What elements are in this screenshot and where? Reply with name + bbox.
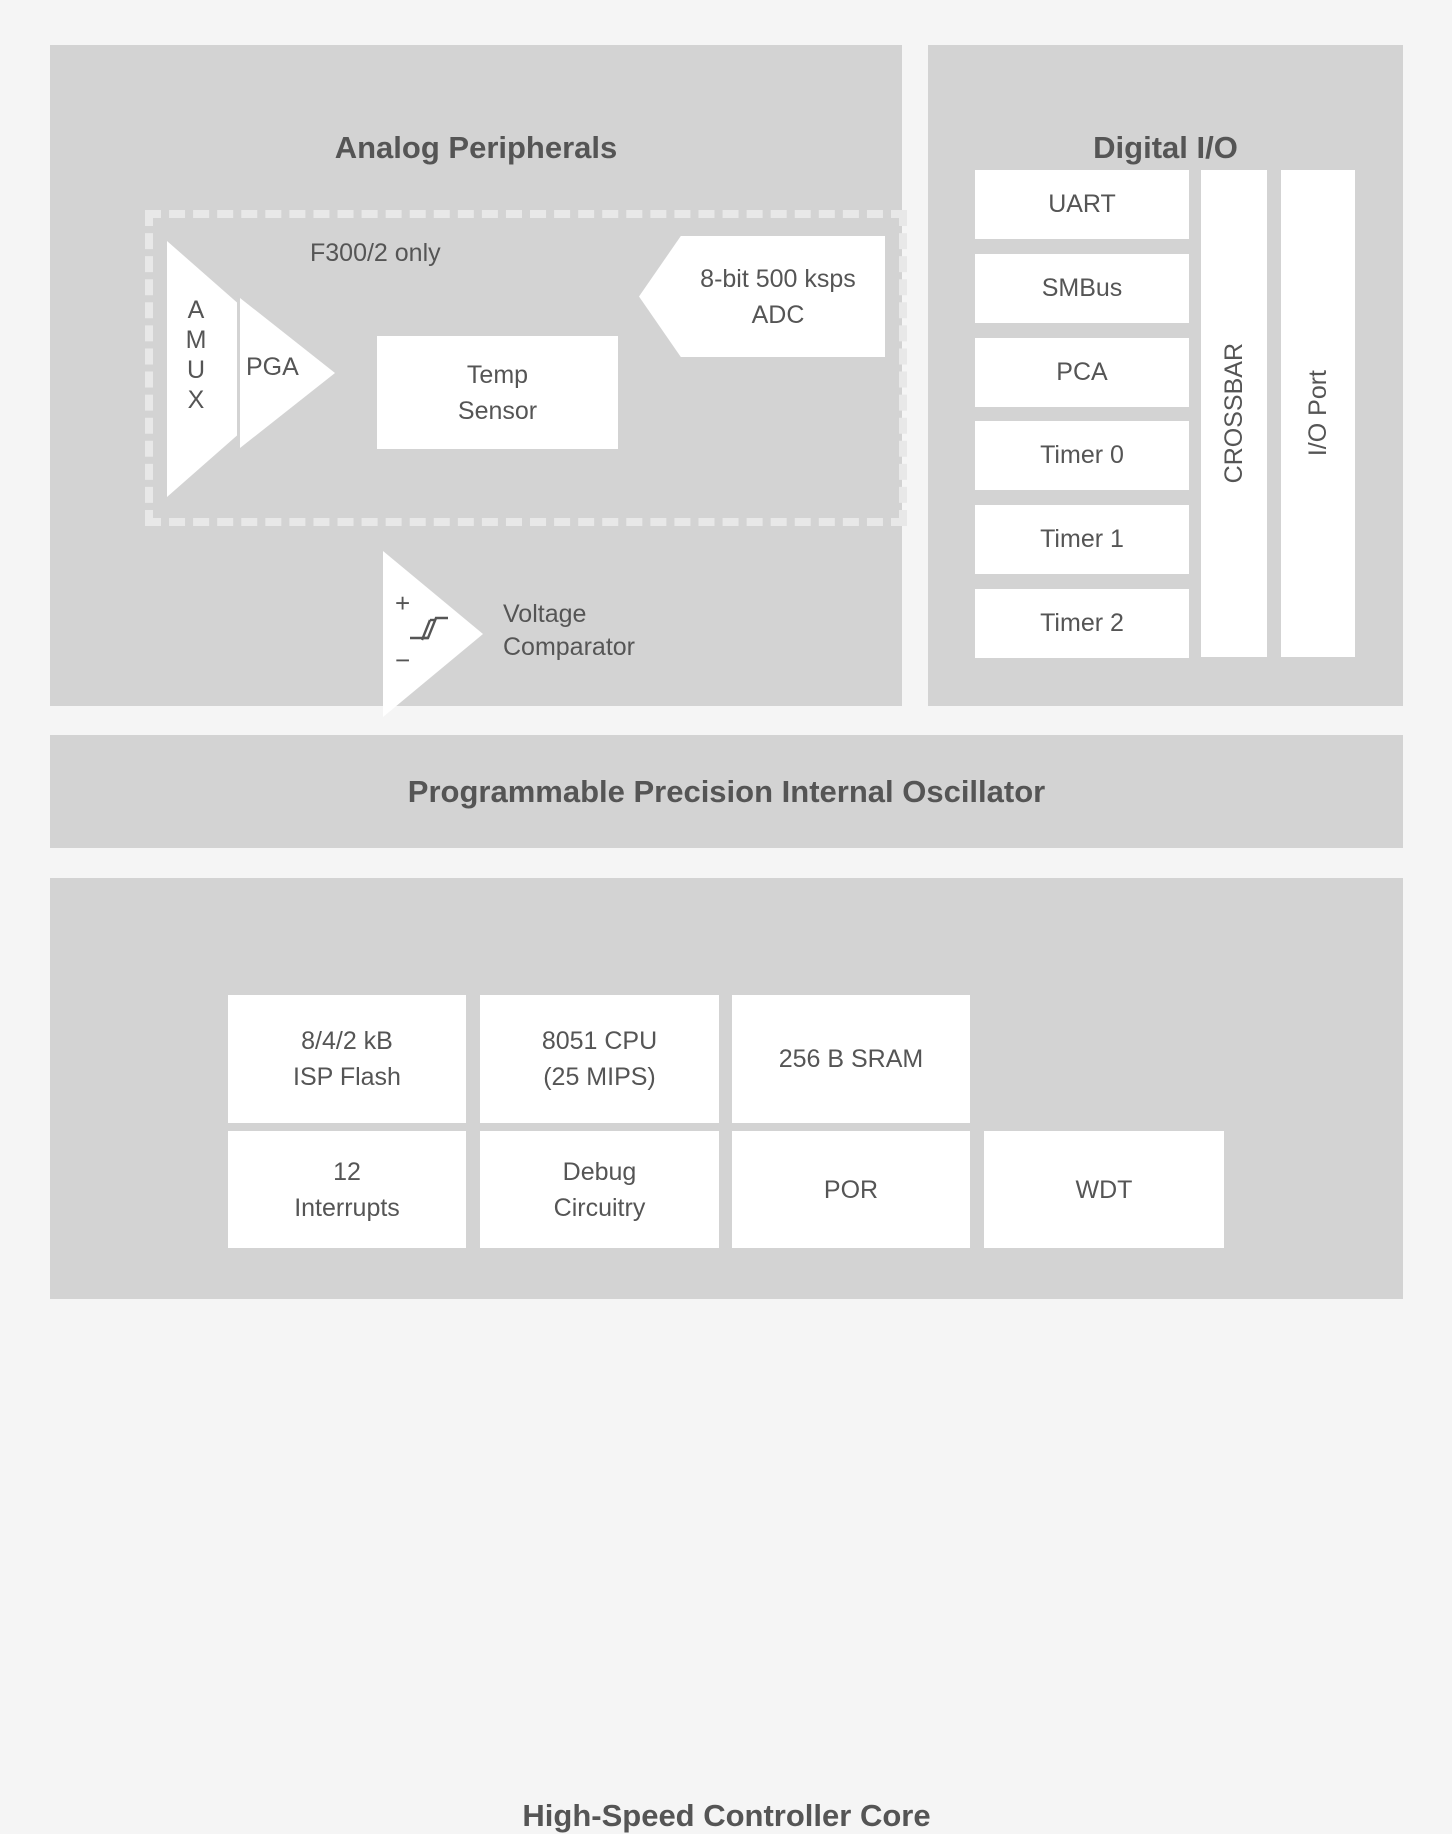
crossbar-block: CROSSBAR xyxy=(1201,170,1267,657)
comparator-line2: Comparator xyxy=(503,631,635,664)
core-block-debug-circuitry: Debug Circuitry xyxy=(480,1131,719,1248)
core-block-por: POR xyxy=(732,1131,970,1248)
adc-block: 8-bit 500 ksps ADC xyxy=(639,236,885,357)
core-block-wdt: WDT xyxy=(984,1131,1224,1248)
comparator-line1: Voltage xyxy=(503,598,635,631)
core-block-isp-flash: 8/4/2 kB ISP Flash xyxy=(228,995,466,1123)
f300-only-label: F300/2 only xyxy=(310,239,441,268)
amux-label: A M U X xyxy=(167,295,225,415)
comparator-minus-input-label: − xyxy=(395,647,410,673)
core-block-sram: 256 B SRAM xyxy=(732,995,970,1123)
core-block-por-line1: POR xyxy=(824,1172,878,1208)
core-block-interrupts-line2: Interrupts xyxy=(294,1190,400,1226)
internal-oscillator-panel: Programmable Precision Internal Oscillat… xyxy=(50,735,1403,848)
amux-letter-x: X xyxy=(167,385,225,415)
core-block-debug-circuitry-line1: Debug xyxy=(554,1154,646,1190)
core-block-interrupts-line1: 12 xyxy=(294,1154,400,1190)
digital-io-title: Digital I/O xyxy=(928,130,1403,166)
crossbar-label: CROSSBAR xyxy=(1220,343,1249,483)
peripheral-block-timer-0: Timer 0 xyxy=(975,421,1189,490)
core-block-wdt-line1: WDT xyxy=(1076,1172,1133,1208)
controller-core-title: High-Speed Controller Core xyxy=(50,1798,1403,1834)
core-block-isp-flash-line2: ISP Flash xyxy=(293,1059,401,1095)
adc-line2: ADC xyxy=(700,297,856,333)
adc-line1: 8-bit 500 ksps xyxy=(700,261,856,297)
core-block-isp-flash-line1: 8/4/2 kB xyxy=(293,1023,401,1059)
io-port-block: I/O Port xyxy=(1281,170,1355,657)
core-block-debug-circuitry-line2: Circuitry xyxy=(554,1190,646,1226)
peripheral-block-uart: UART xyxy=(975,170,1189,239)
amux-letter-a: A xyxy=(167,295,225,325)
core-block-8051-cpu-line1: 8051 CPU xyxy=(542,1023,657,1059)
pga-label: PGA xyxy=(246,353,299,382)
peripheral-block-smbus: SMBus xyxy=(975,254,1189,323)
analog-peripherals-title: Analog Peripherals xyxy=(50,130,902,166)
core-block-8051-cpu-line2: (25 MIPS) xyxy=(542,1059,657,1095)
core-block-8051-cpu: 8051 CPU (25 MIPS) xyxy=(480,995,719,1123)
voltage-comparator-label: Voltage Comparator xyxy=(503,598,635,664)
peripheral-block-timer-1: Timer 1 xyxy=(975,505,1189,574)
amux-letter-m: M xyxy=(167,325,225,355)
internal-oscillator-title: Programmable Precision Internal Oscillat… xyxy=(408,774,1045,810)
core-block-interrupts: 12 Interrupts xyxy=(228,1131,466,1248)
analog-peripherals-panel: Analog Peripherals F300/2 only A M U X P… xyxy=(50,45,902,706)
temp-sensor-line2: Sensor xyxy=(458,393,537,429)
temp-sensor-line1: Temp xyxy=(458,357,537,393)
hysteresis-icon xyxy=(408,612,450,646)
peripheral-block-timer-2: Timer 2 xyxy=(975,589,1189,658)
core-block-sram-line1: 256 B SRAM xyxy=(779,1041,924,1077)
amux-letter-u: U xyxy=(167,355,225,385)
io-port-label: I/O Port xyxy=(1304,370,1333,456)
peripheral-block-pca: PCA xyxy=(975,338,1189,407)
temp-sensor-block: Temp Sensor xyxy=(377,336,618,449)
